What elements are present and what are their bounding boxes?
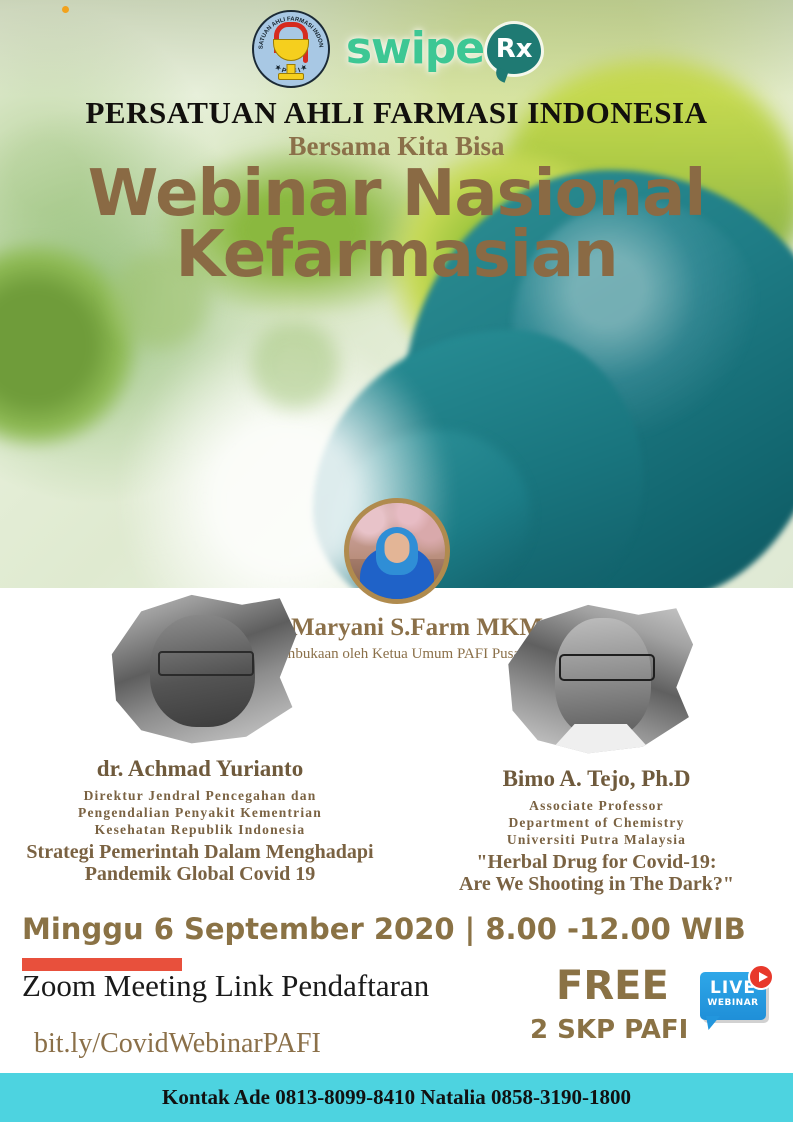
portrait-shirt [542,724,660,760]
event-datetime: Minggu 6 September 2020 | 8.00 -12.00 WI… [22,912,746,946]
live-webinar-badge: LIVE WEBINAR [700,968,772,1030]
topic-line: Pandemik Global Covid 19 [0,863,400,885]
affiliation-line: Universiti Putra Malaysia [400,832,793,849]
speaker-affiliation: Direktur Jendral Pencegahan dan Pengenda… [0,788,400,839]
portrait-brush-mask [492,595,702,760]
contact-text: Kontak Ade 0813-8099-8410 Natalia 0858-3… [162,1085,631,1110]
speaker-right: Bimo A. Tejo, Ph.D Associate Professor D… [400,595,793,895]
topic-line: Are We Shooting in The Dark?" [400,873,793,895]
rx-label: Rx [496,36,533,62]
affiliation-line: Department of Chemistry [400,815,793,832]
topic-line: "Herbal Drug for Covid-19: [400,851,793,873]
speaker-name: dr. Achmad Yurianto [0,756,400,782]
avatar [95,585,305,750]
speaker-left: dr. Achmad Yurianto Direktur Jendral Pen… [0,585,400,885]
speaker-topic: Strategi Pemerintah Dalam Menghadapi Pan… [0,841,400,886]
avatar [492,595,702,760]
glasses-icon [158,651,254,676]
affiliation-line: Kesehatan Republik Indonesia [0,822,400,839]
badge-webinar-label: WEBINAR [700,999,766,1008]
rx-bubble-icon: Rx [487,24,541,74]
play-button-icon [748,964,774,990]
portrait-face [384,533,409,563]
swiperx-dot-icon [62,6,69,13]
contact-bar: Kontak Ade 0813-8099-8410 Natalia 0858-3… [0,1073,793,1122]
price-badge: FREE [556,966,669,1006]
swiperx-wordmark: swipe [346,27,484,71]
credits-badge: 2 SKP PAFI [530,1017,688,1043]
organization-name: PERSATUAN AHLI FARMASI INDONESIA [0,96,793,130]
glasses-icon [559,654,655,681]
affiliation-line: Associate Professor [400,798,793,815]
virus-particle [240,310,350,420]
speaker-topic: "Herbal Drug for Covid-19: Are We Shooti… [400,851,793,896]
portrait-brush-mask [95,585,305,750]
webinar-poster: PERSATUAN AHLI FARMASI INDONESIA ★ P A F… [0,0,793,1122]
logo-row: PERSATUAN AHLI FARMASI INDONESIA ★ P A F… [0,8,793,90]
affiliation-line: Pengendalian Penyakit Kementrian [0,805,400,822]
registration-link[interactable]: bit.ly/CovidWebinarPAFI [34,1028,321,1060]
topic-line: Strategi Pemerintah Dalam Menghadapi [0,841,400,863]
speaker-affiliation: Associate Professor Department of Chemis… [400,798,793,849]
registration-label: Zoom Meeting Link Pendaftaran [22,968,429,1004]
title-line-2: Kefarmasian [0,225,793,286]
headline-block: PERSATUAN AHLI FARMASI INDONESIA Bersama… [0,96,793,287]
page-title: Webinar Nasional Kefarmasian [0,164,793,287]
pafi-logo-icon: PERSATUAN AHLI FARMASI INDONESIA ★ P A F… [252,10,330,88]
speaker-name: Bimo A. Tejo, Ph.D [400,766,793,792]
swiperx-logo: swipe Rx [346,24,541,74]
affiliation-line: Direktur Jendral Pencegahan dan [0,788,400,805]
bowl-base [278,73,304,80]
